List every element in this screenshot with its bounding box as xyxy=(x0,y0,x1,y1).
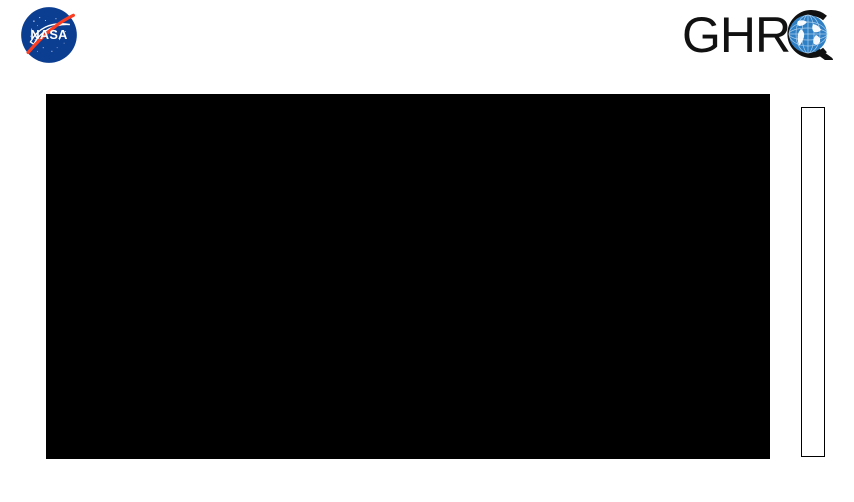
map-plot-area[interactable] xyxy=(46,94,770,459)
brightness-temperature-heatmap xyxy=(47,95,769,458)
map-clip xyxy=(47,95,769,458)
colorbar xyxy=(801,107,825,457)
latitude-axis xyxy=(0,0,38,502)
colorbar-celsius-labels xyxy=(758,0,792,502)
colorbar-gradient xyxy=(802,108,824,456)
